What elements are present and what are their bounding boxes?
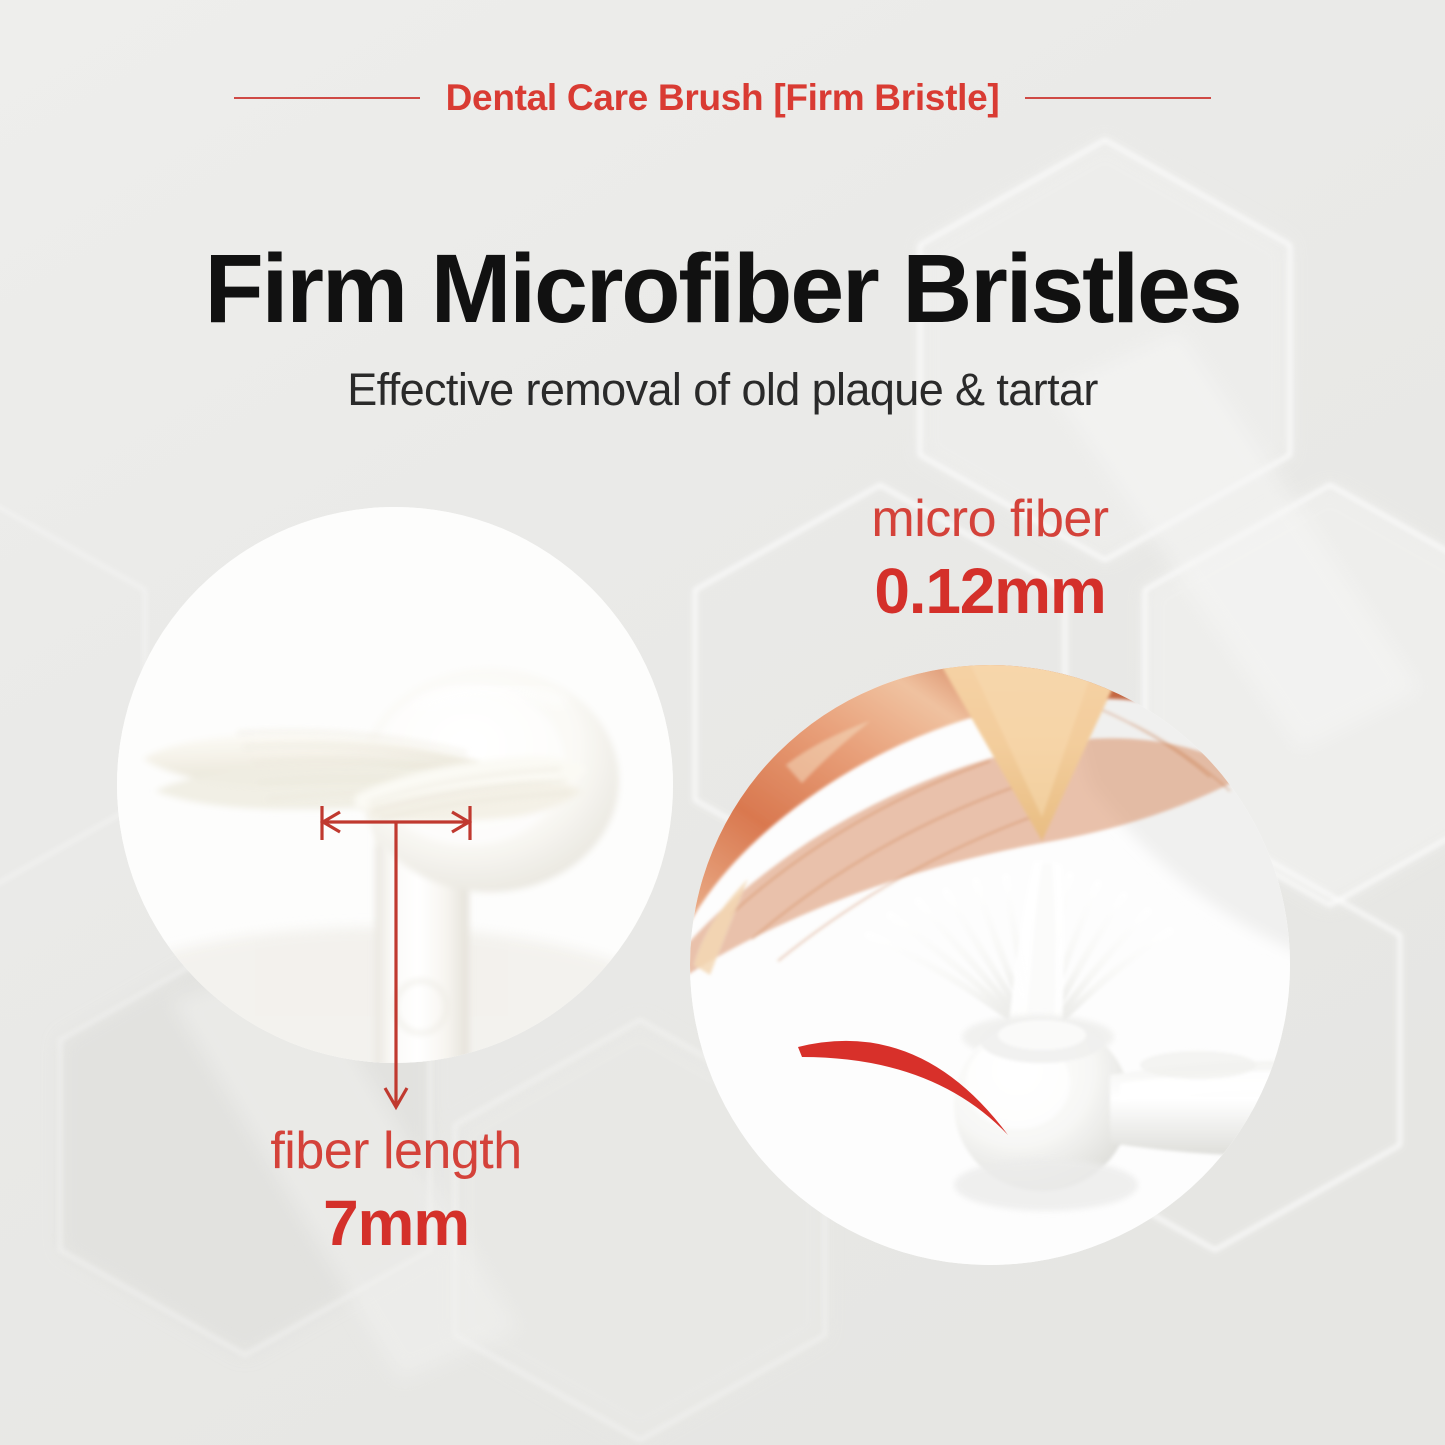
product-infographic: Dental Care Brush [Firm Bristle] Firm Mi…: [0, 0, 1445, 1445]
brush-head-photo: [117, 507, 673, 1063]
fiber-length-value: 7mm: [118, 1190, 674, 1257]
eyebrow-title: Dental Care Brush [Firm Bristle]: [446, 78, 1000, 119]
eyebrow-rule-right: [1025, 97, 1211, 99]
finger-press-photo: [690, 665, 1290, 1265]
micro-fiber-label: micro fiber: [690, 492, 1290, 546]
brush-head-illustration: [117, 507, 673, 1063]
finger-press-illustration: [690, 665, 1290, 1265]
page-subtitle: Effective removal of old plaque & tartar: [0, 363, 1445, 417]
micro-fiber-value: 0.12mm: [690, 558, 1290, 625]
micro-fiber-callout: micro fiber 0.12mm: [690, 492, 1290, 625]
eyebrow-rule-left: [234, 97, 420, 99]
fiber-length-label: fiber length: [118, 1124, 674, 1178]
fiber-length-callout: fiber length 7mm: [118, 1124, 674, 1257]
page-title: Firm Microfiber Bristles: [0, 237, 1445, 342]
eyebrow-row: Dental Care Brush [Firm Bristle]: [0, 78, 1445, 119]
